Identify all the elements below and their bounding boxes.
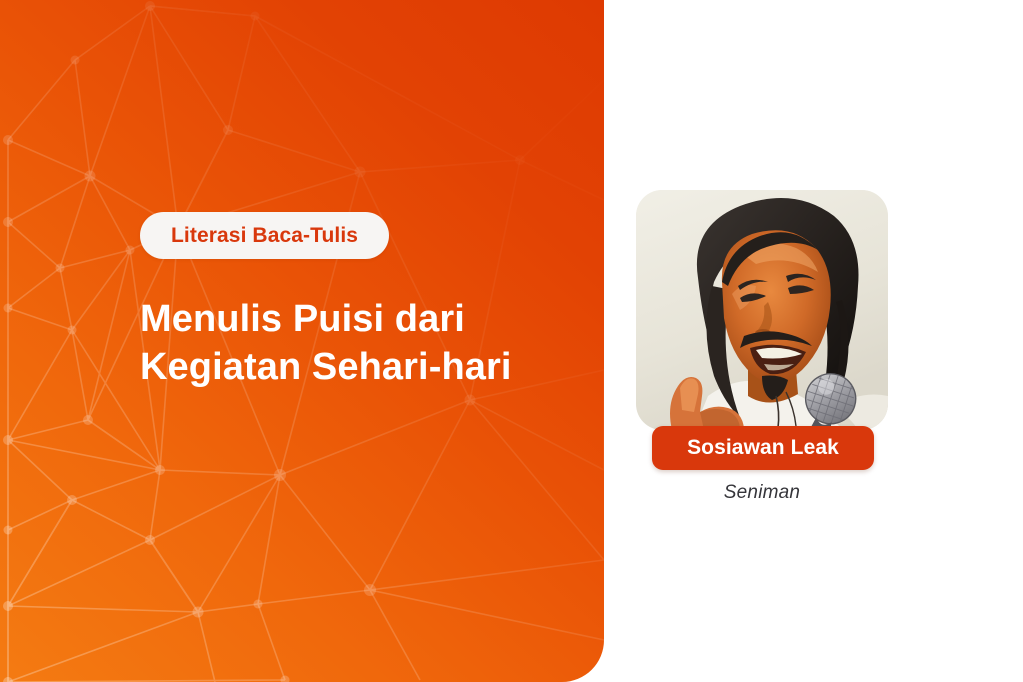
category-badge[interactable]: Literasi Baca-Tulis (140, 212, 389, 259)
speaker-name-badge[interactable]: Sosiawan Leak (652, 426, 874, 470)
speaker-role: Seniman (636, 482, 888, 504)
speaker-portrait (636, 190, 888, 430)
page-title: Menulis Puisi dari Kegiatan Sehari-hari (140, 295, 560, 391)
category-badge-label: Literasi Baca-Tulis (171, 224, 358, 248)
page-title-line-1: Menulis Puisi dari (140, 295, 560, 343)
page-title-line-2: Kegiatan Sehari-hari (140, 343, 560, 391)
hero-panel: Literasi Baca-Tulis Menulis Puisi dari K… (0, 0, 604, 682)
speaker-name: Sosiawan Leak (687, 436, 839, 460)
speaker-card: Sosiawan Leak Seniman (636, 190, 888, 430)
slide-canvas: Literasi Baca-Tulis Menulis Puisi dari K… (0, 0, 1023, 682)
